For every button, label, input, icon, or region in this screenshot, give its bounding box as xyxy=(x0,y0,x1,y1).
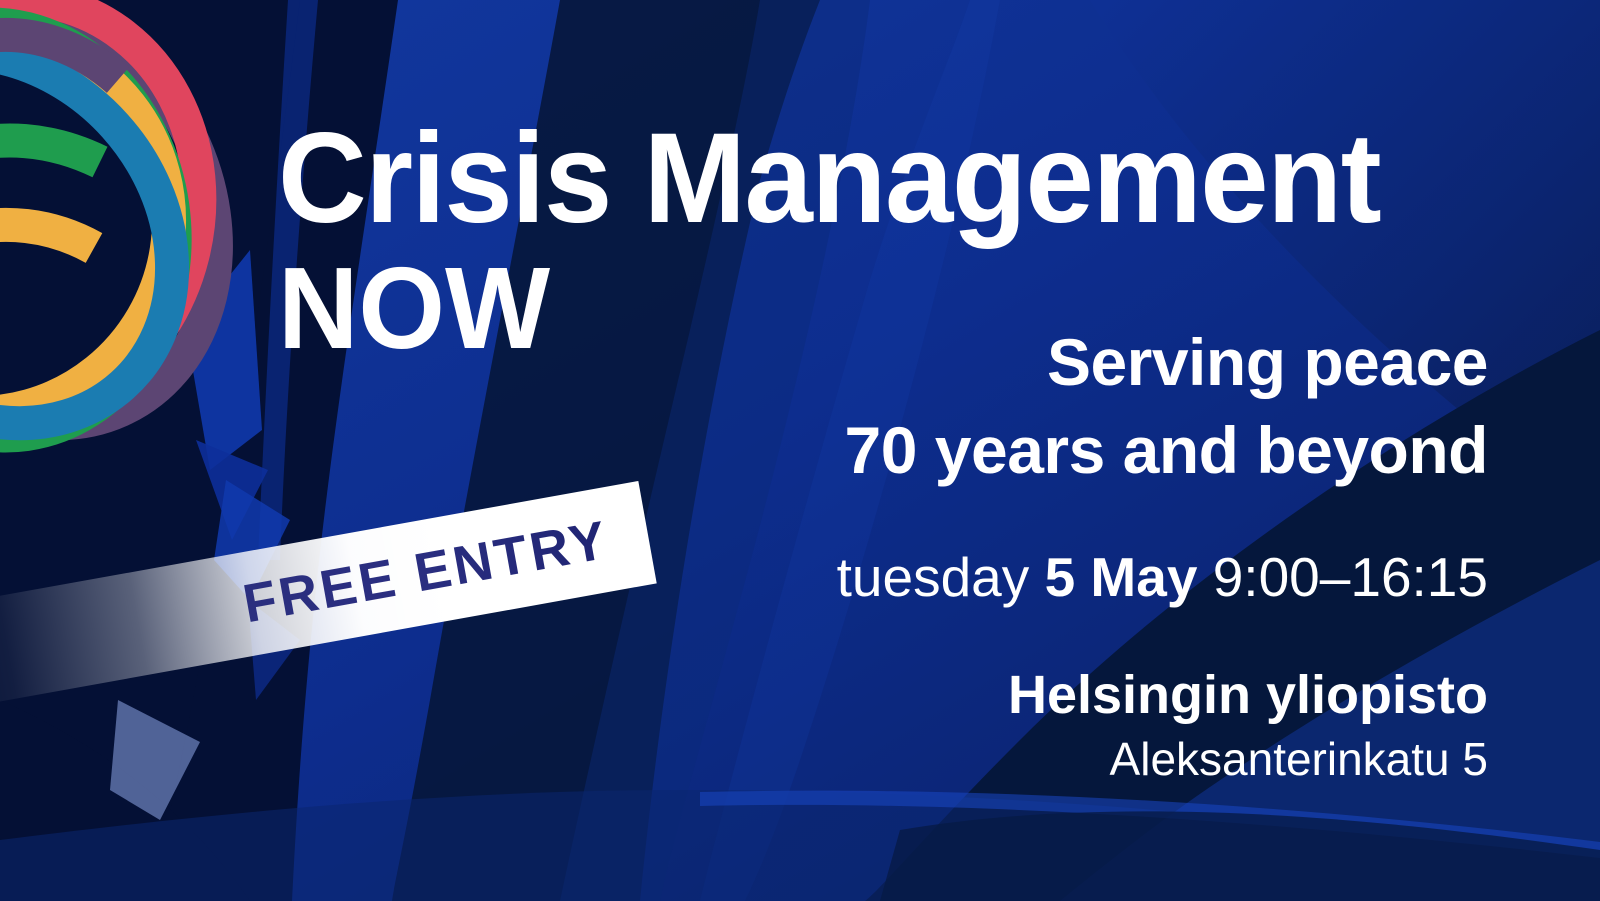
venue-street: Aleksanterinkatu 5 xyxy=(608,732,1488,787)
tagline: Serving peace 70 years and beyond xyxy=(608,318,1488,495)
info-column: Serving peace 70 years and beyond tuesda… xyxy=(608,318,1488,787)
venue-name: Helsingin yliopisto xyxy=(608,665,1488,725)
headline-line-1: Crisis Management xyxy=(278,118,1449,240)
event-time: 9:00–16:15 xyxy=(1213,546,1488,608)
tagline-line-1: Serving peace xyxy=(608,318,1488,406)
venue: Helsingin yliopisto Aleksanterinkatu 5 xyxy=(608,665,1488,787)
event-datetime: tuesday 5 May 9:00–16:15 xyxy=(608,547,1488,608)
event-weekday: tuesday xyxy=(837,546,1030,608)
tagline-line-2: 70 years and beyond xyxy=(608,406,1488,494)
event-banner: Crisis Management NOW Serving peace 70 y… xyxy=(0,0,1600,901)
ring-yellow-over xyxy=(0,225,94,320)
interlocking-rings-logo xyxy=(0,0,252,508)
event-date: 5 May xyxy=(1045,546,1198,608)
